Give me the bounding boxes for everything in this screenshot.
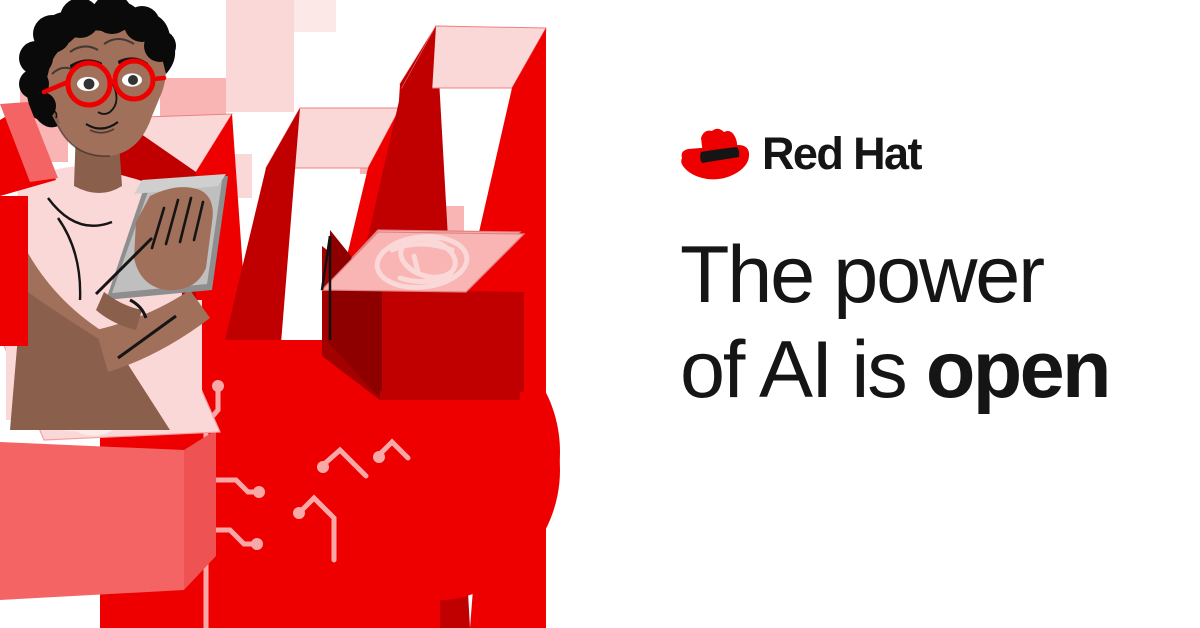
- red-hat-fedora-icon: [678, 124, 752, 182]
- red-hat-logo-lockup[interactable]: Red Hat: [678, 118, 921, 188]
- headline-line-2: of AI is open: [680, 323, 1109, 418]
- headline-emphasis-open: open: [926, 325, 1109, 415]
- hero-illustration: [0, 0, 600, 628]
- headline-line-2-prefix: of AI is: [680, 325, 926, 415]
- headline-line-1: The power: [680, 228, 1109, 323]
- red-hat-ai-promo-banner: Red Hat The power of AI is open: [0, 0, 1200, 628]
- red-hat-wordmark: Red Hat: [762, 131, 921, 176]
- text-content: Red Hat The power of AI is open: [678, 0, 1178, 628]
- page-title: The power of AI is open: [680, 228, 1109, 418]
